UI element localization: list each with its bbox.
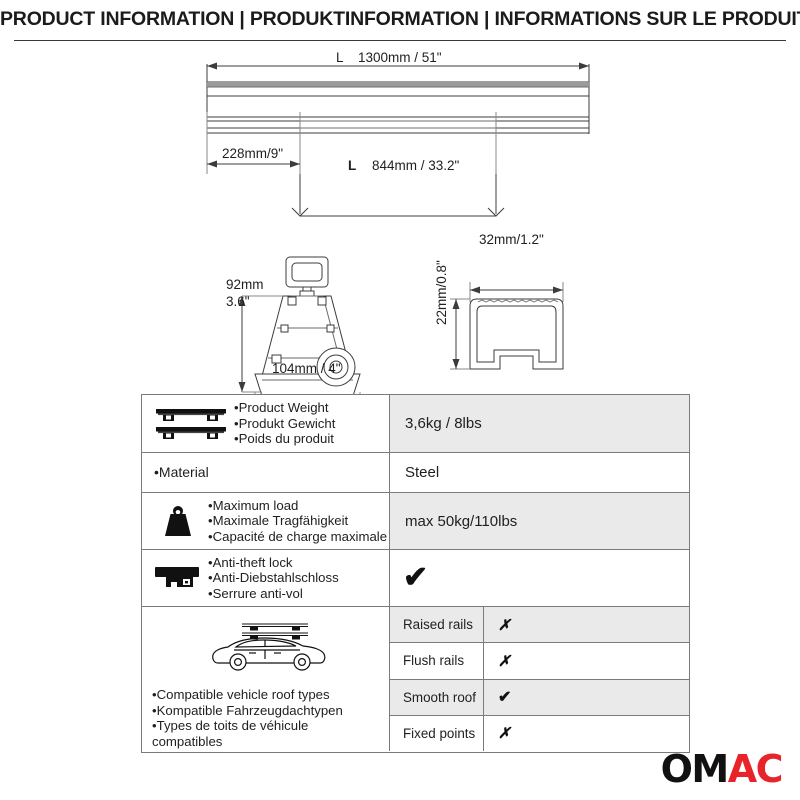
label-line-de: •Anti-Diebstahlschloss — [208, 570, 339, 586]
label-line-fr: •Types de toits de véhicule compatibles — [152, 718, 367, 749]
foot-width-value: 104mm / 4" — [272, 361, 341, 376]
label-line-en: •Material — [154, 465, 209, 481]
foot-height-value-line2: 3.6" — [226, 294, 250, 309]
lock-icon — [148, 563, 208, 593]
crossbar-top-view — [207, 82, 589, 96]
material-label-cell: •Material — [142, 453, 390, 492]
product-weight-labels: •Product Weight •Produkt Gewicht •Poids … — [234, 400, 335, 447]
overall-length-prefix: L — [336, 50, 344, 65]
compatibility-name: Raised rails — [390, 607, 484, 642]
compatibility-label-cell: •Compatible vehicle roof types •Kompatib… — [142, 607, 390, 751]
overall-length-value: 1300mm / 51" — [358, 50, 442, 65]
anti-theft-lock-label-cell: •Anti-theft lock •Anti-Diebstahlschloss … — [142, 550, 390, 606]
table-row: •Product Weight •Produkt Gewicht •Poids … — [142, 395, 689, 453]
compatibility-name: Flush rails — [390, 643, 484, 678]
foot-offset-dimension — [207, 161, 300, 168]
label-line-fr: •Poids du produit — [234, 431, 335, 447]
page-title: PRODUCT INFORMATION | PRODUKTINFORMATION… — [0, 8, 800, 31]
label-line-en: •Anti-theft lock — [208, 555, 339, 571]
label-line-en: •Maximum load — [208, 498, 387, 514]
product-information-page: PRODUCT INFORMATION | PRODUKTINFORMATION… — [0, 0, 800, 800]
compatibility-mark-icon: ✗ — [484, 607, 689, 642]
maximum-load-value: max 50kg/110lbs — [390, 493, 689, 549]
anti-theft-lock-labels: •Anti-theft lock •Anti-Diebstahlschloss … — [208, 555, 339, 602]
header-divider — [14, 40, 786, 41]
checkmark-icon: ✔ — [403, 563, 428, 593]
crossbars-icon — [148, 406, 234, 442]
label-line-fr: •Serrure anti-vol — [208, 586, 339, 602]
compatibility-mark-icon: ✗ — [484, 716, 689, 751]
material-labels: •Material — [154, 465, 209, 481]
weight-icon — [148, 503, 208, 539]
compatibility-row-raised-rails: Raised rails ✗ — [390, 607, 689, 643]
foot-offset-value: 228mm/9" — [222, 146, 283, 161]
compatibility-mark-icon: ✗ — [484, 643, 689, 678]
label-line-de: •Kompatible Fahrzeugdachtypen — [152, 703, 367, 719]
table-row: •Compatible vehicle roof types •Kompatib… — [142, 607, 689, 751]
anti-theft-lock-value: ✔ — [390, 550, 689, 606]
compatibility-row-flush-rails: Flush rails ✗ — [390, 643, 689, 679]
car-with-roof-bars-icon — [152, 617, 383, 675]
maximum-load-labels: •Maximum load •Maximale Tragfähigkeit •C… — [208, 498, 387, 545]
omac-logo: OMAC — [661, 750, 782, 788]
compatibility-row-smooth-roof: Smooth roof ✔ — [390, 680, 689, 716]
label-line-en: •Compatible vehicle roof types — [152, 687, 367, 703]
compatibility-name: Smooth roof — [390, 680, 484, 715]
compatibility-mark-icon: ✔ — [484, 680, 689, 715]
table-row: •Maximum load •Maximale Tragfähigkeit •C… — [142, 493, 689, 550]
compatibility-labels: •Compatible vehicle roof types •Kompatib… — [152, 687, 367, 749]
profile-width-value: 32mm/1.2" — [479, 232, 544, 247]
table-row: •Anti-theft lock •Anti-Diebstahlschloss … — [142, 550, 689, 607]
table-row: •Material Steel — [142, 453, 689, 493]
product-weight-label-cell: •Product Weight •Produkt Gewicht •Poids … — [142, 395, 390, 452]
compatibility-row-fixed-points: Fixed points ✗ — [390, 716, 689, 751]
material-value: Steel — [390, 453, 689, 492]
span-length-dimension — [292, 174, 504, 216]
label-line-de: •Maximale Tragfähigkeit — [208, 513, 387, 529]
label-line-fr: •Capacité de charge maximale — [208, 529, 387, 545]
roof-rack-foot-drawing — [255, 257, 360, 399]
logo-text-accent: AC — [728, 747, 782, 791]
label-line-en: •Product Weight — [234, 400, 335, 416]
specification-table: •Product Weight •Produkt Gewicht •Poids … — [141, 394, 690, 753]
bar-cross-section-drawing — [470, 299, 563, 369]
profile-height-value: 22mm/0.8" — [434, 260, 449, 325]
logo-text-dark: OM — [661, 747, 728, 791]
label-line-de: •Produkt Gewicht — [234, 416, 335, 432]
profile-height-dimension — [450, 299, 470, 369]
product-weight-value: 3,6kg / 8lbs — [390, 395, 689, 452]
technical-drawing-area — [0, 44, 800, 394]
compatibility-sub-table: Raised rails ✗ Flush rails ✗ Smooth roof… — [390, 607, 689, 751]
maximum-load-label-cell: •Maximum load •Maximale Tragfähigkeit •C… — [142, 493, 390, 549]
span-length-prefix: L — [348, 158, 356, 173]
foot-height-value-line1: 92mm — [226, 277, 264, 292]
span-length-value: 844mm / 33.2" — [372, 158, 459, 173]
compatibility-name: Fixed points — [390, 716, 484, 751]
